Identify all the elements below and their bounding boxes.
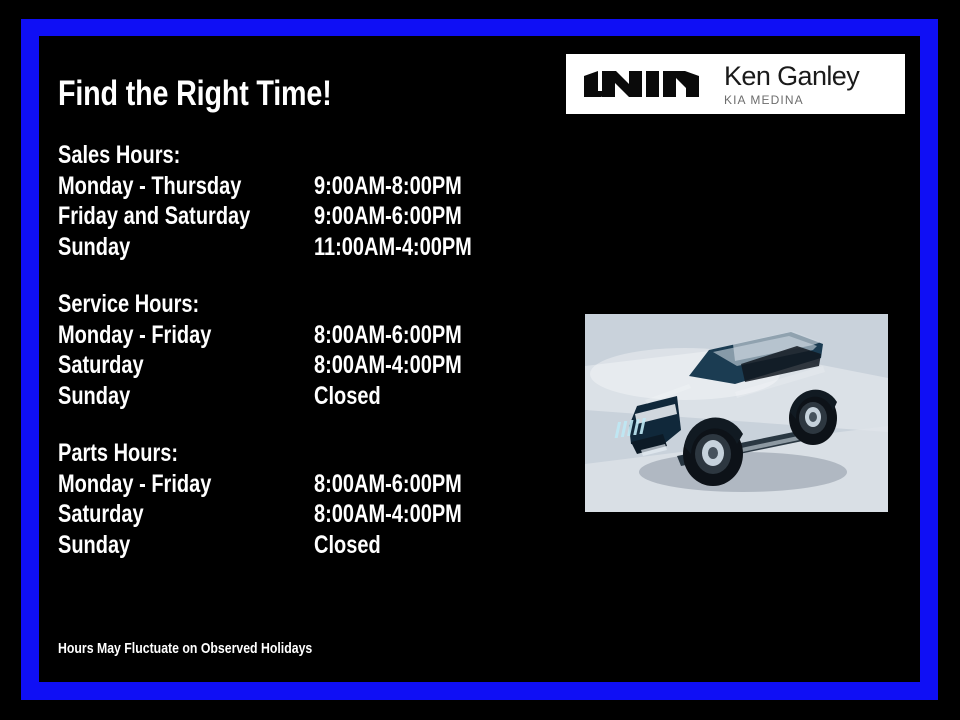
dealer-subtitle: KIA MEDINA xyxy=(724,94,859,106)
hours-row-time: Closed xyxy=(314,381,381,412)
hours-block-heading: Parts Hours: xyxy=(58,438,528,469)
hours-row-day: Monday - Friday xyxy=(58,320,314,351)
hours-block-heading: Service Hours: xyxy=(58,289,528,320)
hours-row-day: Sunday xyxy=(58,232,314,263)
vehicle-photo: 0 1 0 1 0 0.45 1 0 1 0 1 xyxy=(585,314,888,512)
hours-row: Saturday 8:00AM-4:00PM xyxy=(58,499,528,530)
hours-row: Sunday Closed xyxy=(58,530,528,561)
hours-row-day: Sunday xyxy=(58,530,314,561)
hours-block-heading-label: Service Hours: xyxy=(58,289,528,320)
hours-row-time: 9:00AM-8:00PM xyxy=(314,171,462,202)
hours-row-day: Saturday xyxy=(58,499,314,530)
hours-row-time: 8:00AM-6:00PM xyxy=(314,320,462,351)
dealer-logo: Ken Ganley KIA MEDINA xyxy=(566,54,905,114)
hours-block-sales: Sales Hours: Monday - Thursday 9:00AM-8:… xyxy=(58,140,528,262)
hours-row-day: Monday - Thursday xyxy=(58,171,314,202)
hours-row-time: 8:00AM-6:00PM xyxy=(314,469,462,500)
hours-row-day: Saturday xyxy=(58,350,314,381)
hours-row: Friday and Saturday 9:00AM-6:00PM xyxy=(58,201,528,232)
hours-row: Sunday Closed xyxy=(58,381,528,412)
hours-row-day: Sunday xyxy=(58,381,314,412)
kia-logo-icon xyxy=(583,69,701,99)
hours-block-heading: Sales Hours: xyxy=(58,140,528,171)
hours-row-time: 9:00AM-6:00PM xyxy=(314,201,462,232)
hours-block-service: Service Hours: Monday - Friday 8:00AM-6:… xyxy=(58,289,528,411)
dealer-logo-text: Ken Ganley KIA MEDINA xyxy=(724,63,859,106)
hours-row-time: 8:00AM-4:00PM xyxy=(314,350,462,381)
hours-block-parts: Parts Hours: Monday - Friday 8:00AM-6:00… xyxy=(58,438,528,560)
dealer-name: Ken Ganley xyxy=(724,63,859,90)
footer-disclaimer: Hours May Fluctuate on Observed Holidays xyxy=(58,640,312,657)
hours-row-day: Friday and Saturday xyxy=(58,201,314,232)
hours-row-time: Closed xyxy=(314,530,381,561)
page-title: Find the Right Time! xyxy=(58,74,332,114)
hours-row: Sunday 11:00AM-4:00PM xyxy=(58,232,528,263)
hours-row-time: 11:00AM-4:00PM xyxy=(314,232,472,263)
hours-row: Monday - Friday 8:00AM-6:00PM xyxy=(58,320,528,351)
hours-row: Monday - Friday 8:00AM-6:00PM xyxy=(58,469,528,500)
hours-row: Saturday 8:00AM-4:00PM xyxy=(58,350,528,381)
hours-row-time: 8:00AM-4:00PM xyxy=(314,499,462,530)
hours-row-day: Monday - Friday xyxy=(58,469,314,500)
slide-root: Find the Right Time! Sales Hours: Monday… xyxy=(0,0,960,720)
hours-list: Sales Hours: Monday - Thursday 9:00AM-8:… xyxy=(58,140,528,587)
hours-block-heading-label: Parts Hours: xyxy=(58,438,528,469)
hours-block-heading-label: Sales Hours: xyxy=(58,140,528,171)
hours-row: Monday - Thursday 9:00AM-8:00PM xyxy=(58,171,528,202)
